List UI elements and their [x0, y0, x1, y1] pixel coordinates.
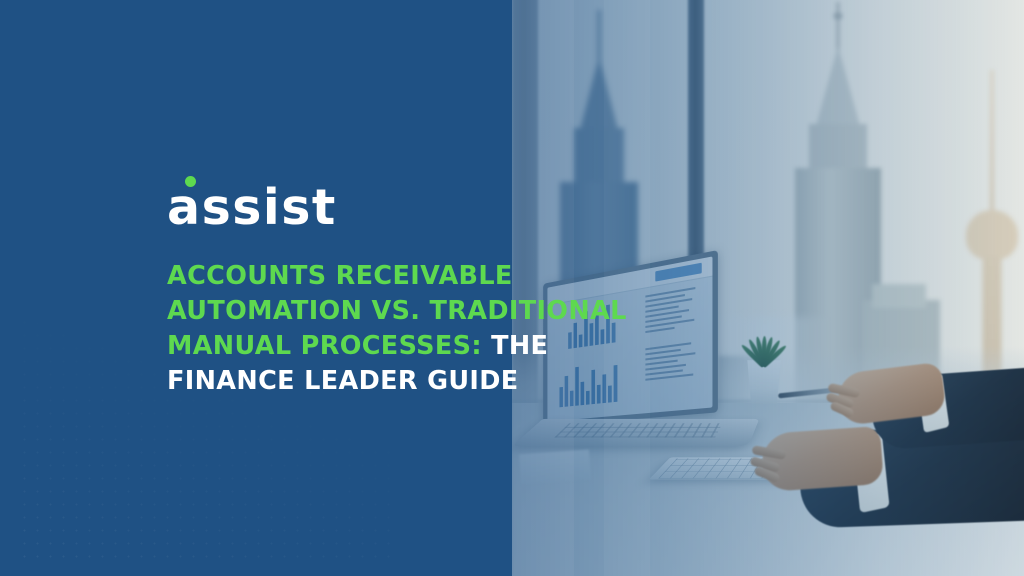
brand-logo[interactable]: assist: [167, 174, 687, 232]
page-title: Accounts Receivable Automation vs. Tradi…: [167, 259, 667, 399]
content-block: assist Accounts Receivable Automation vs…: [167, 174, 687, 416]
logo-wordmark: assist: [167, 183, 337, 232]
logo-green-dot-icon: [185, 176, 196, 187]
headline-green-text: Accounts Receivable Automation vs. Tradi…: [167, 261, 627, 361]
hero-banner: assist Accounts Receivable Automation vs…: [0, 0, 1024, 576]
